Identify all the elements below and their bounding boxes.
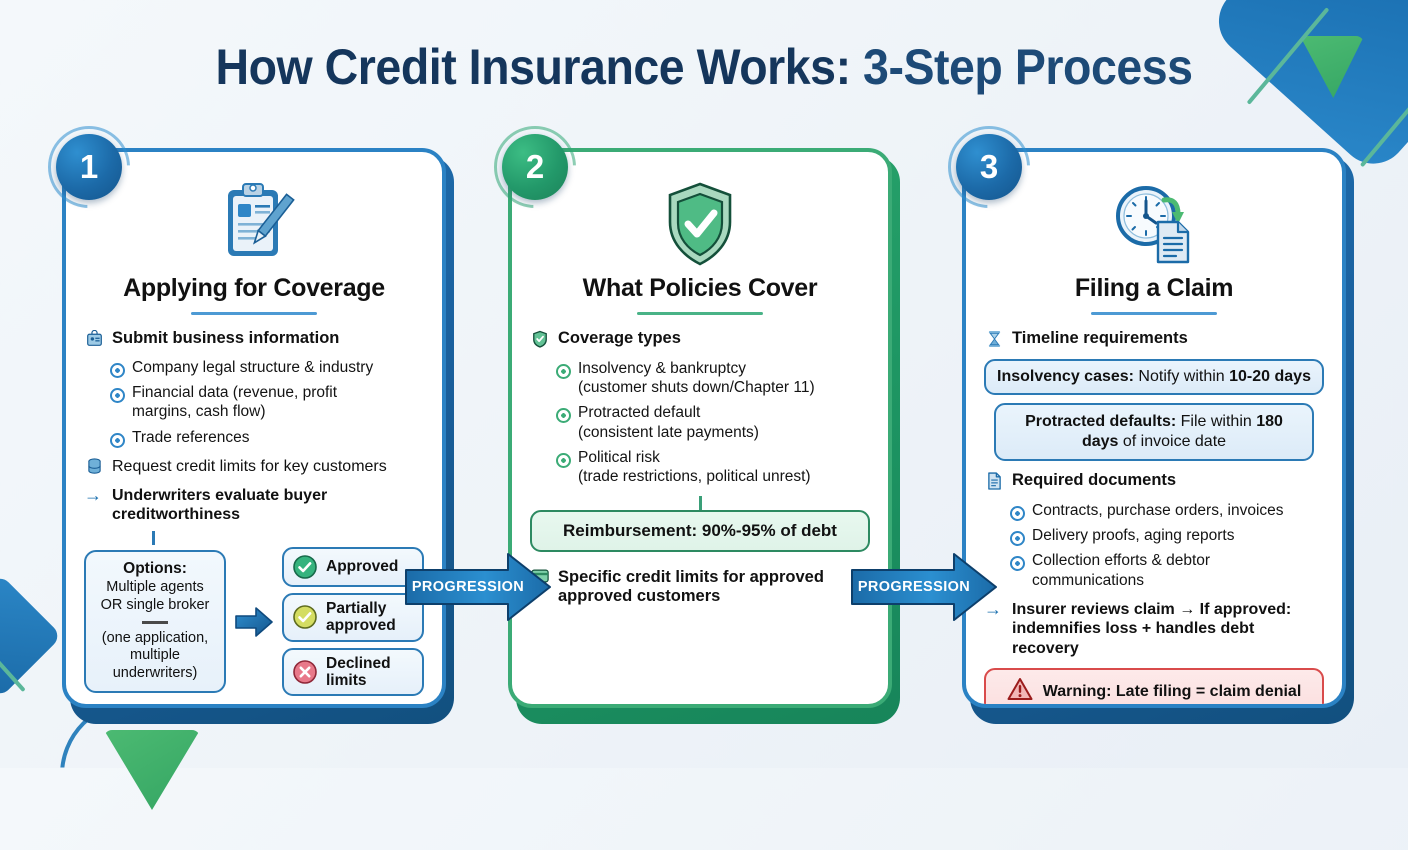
options-box-divider (142, 621, 168, 624)
outcome-label: Approved (326, 558, 398, 575)
warning-banner: Warning: Late filing = claim denial (984, 668, 1324, 708)
connector-tick (699, 496, 702, 510)
title-rule-1 (191, 312, 317, 315)
options-box-title: Options: (92, 560, 218, 579)
step-card-3[interactable]: 3 (962, 148, 1354, 724)
x-circle-red-icon (292, 659, 318, 685)
options-box-line1: Multiple agents (92, 579, 218, 597)
hourglass-icon (984, 329, 1004, 353)
list-item: Insolvency & bankruptcy (customer shuts … (556, 359, 870, 397)
section-label: Request credit limits for key customers (112, 457, 387, 476)
step-card-2[interactable]: 2 What Policies Cover (508, 148, 900, 724)
list-item: Trade references (110, 428, 424, 447)
section-submit-business-information: Submit business information (84, 329, 424, 352)
arrow-line-text: Insurer reviews claim → If approved: ind… (1012, 600, 1324, 659)
options-box: Options: Multiple agents OR single broke… (84, 550, 226, 692)
steps-container: 1 (0, 148, 1408, 728)
progression-label-1: PROGRESSION (410, 552, 526, 622)
options-box-line4: multiple (92, 647, 218, 665)
arrow-line-text: Underwriters evaluate buyer creditworthi… (112, 486, 424, 525)
outcome-pill-partially-approved[interactable]: Partially approved (282, 593, 424, 642)
section-label: Submit business information (112, 329, 339, 349)
shield-check-icon (530, 176, 870, 272)
timeline-box-tail: 10-20 days (1229, 368, 1311, 385)
big-arrow-right-icon (234, 605, 274, 639)
step-badge-2: 2 (502, 134, 568, 200)
section-specific-credit-limits: Specific credit limits for approved appr… (530, 568, 870, 608)
title-rule-3 (1091, 312, 1217, 315)
list-item: Collection efforts & debtor communicatio… (1010, 551, 1324, 589)
timeline-box-protracted: Protracted defaults: File within 180 day… (994, 403, 1314, 461)
outcome-pill-declined[interactable]: Declined limits (282, 648, 424, 697)
outcome-label: Partially approved (326, 600, 414, 635)
options-box-line2: OR single broker (92, 597, 218, 615)
list-item: Protracted default (consistent late paym… (556, 403, 870, 441)
step-number-1: 1 (80, 148, 98, 186)
card-title-1: Applying for Coverage (84, 274, 424, 303)
timeline-box-lead: Insolvency cases: (997, 368, 1134, 385)
step-number-3: 3 (980, 148, 998, 186)
options-box-line3: (one application, (92, 630, 218, 648)
progression-arrow-2: PROGRESSION (850, 552, 998, 622)
progression-label-2: PROGRESSION (856, 552, 972, 622)
warning-triangle-icon (1007, 677, 1033, 707)
card-body-3: Filing a Claim Timeline requirements (962, 148, 1346, 708)
section-required-documents: Required documents (984, 471, 1324, 495)
section-coverage-types: Coverage types (530, 329, 870, 353)
clock-document-icon (984, 176, 1324, 272)
timeline-box-insolvency: Insolvency cases: Notify within 10-20 da… (984, 359, 1324, 395)
bullet-list-required-documents: Contracts, purchase orders, invoices Del… (1010, 501, 1324, 590)
database-icon (84, 457, 104, 480)
timeline-box-lead: Protracted defaults: (1025, 413, 1176, 430)
card-body-1: Applying for Coverage Submit business in… (62, 148, 446, 708)
step-badge-1: 1 (56, 134, 122, 200)
bullet-list-submit-info: Company legal structure & industry Finan… (110, 358, 424, 447)
clipboard-pencil-icon (84, 176, 424, 272)
section-timeline-requirements: Timeline requirements (984, 329, 1324, 353)
check-circle-yellow-icon (292, 604, 318, 630)
id-badge-icon (84, 329, 104, 352)
insurer-reviews-claim-line: → Insurer reviews claim → If approved: i… (984, 600, 1324, 659)
outcome-pills: Approved Partially approved (282, 547, 424, 696)
arrow-right-icon: → (84, 486, 104, 506)
list-item: Contracts, purchase orders, invoices (1010, 501, 1324, 520)
timeline-box-mid: Notify within (1134, 368, 1229, 385)
list-item: Company legal structure & industry (110, 358, 424, 377)
section-label: Coverage types (558, 329, 681, 349)
card-body-2: What Policies Cover Coverage types Insol… (508, 148, 892, 708)
outcome-pill-approved[interactable]: Approved (282, 547, 424, 587)
timeline-box-mid: File within (1176, 413, 1256, 430)
document-icon (984, 471, 1004, 495)
progression-arrow-1: PROGRESSION (404, 552, 552, 622)
connector-tick (152, 531, 155, 545)
check-circle-green-icon (292, 554, 318, 580)
underwriters-evaluate-line: → Underwriters evaluate buyer creditwort… (84, 486, 424, 525)
section-request-credit-limits: Request credit limits for key customers (84, 457, 424, 480)
page-title: How Credit Insurance Works: 3-Step Proce… (49, 38, 1358, 96)
section-label: Required documents (1012, 471, 1176, 491)
page-title-main: How Credit Insurance Works: (215, 39, 850, 95)
card-title-2: What Policies Cover (530, 274, 870, 303)
section-label: Specific credit limits for approved appr… (558, 568, 870, 608)
list-item: Financial data (revenue, profit margins,… (110, 383, 424, 421)
outcome-label: Declined limits (326, 655, 414, 690)
warning-text: Warning: Late filing = claim denial (1043, 682, 1302, 702)
decor-bottom-left-green-triangle (104, 730, 200, 810)
step-card-1[interactable]: 1 (62, 148, 454, 724)
card-title-3: Filing a Claim (984, 274, 1324, 303)
shield-small-icon (530, 329, 550, 353)
page-title-accent: 3-Step Process (851, 39, 1193, 95)
title-rule-2 (637, 312, 763, 315)
options-outcomes-row: Options: Multiple agents OR single broke… (84, 547, 424, 696)
options-box-line5: underwriters) (92, 665, 218, 683)
timeline-box-rest: of invoice date (1118, 433, 1226, 450)
bullet-list-coverage-types: Insolvency & bankruptcy (customer shuts … (556, 359, 870, 486)
list-item: Delivery proofs, aging reports (1010, 526, 1324, 545)
step-number-2: 2 (526, 148, 544, 186)
list-item: Political risk (trade restrictions, poli… (556, 448, 870, 486)
step-badge-3: 3 (956, 134, 1022, 200)
section-label: Timeline requirements (1012, 329, 1188, 349)
reimbursement-highlight: Reimbursement: 90%-95% of debt (530, 510, 870, 551)
